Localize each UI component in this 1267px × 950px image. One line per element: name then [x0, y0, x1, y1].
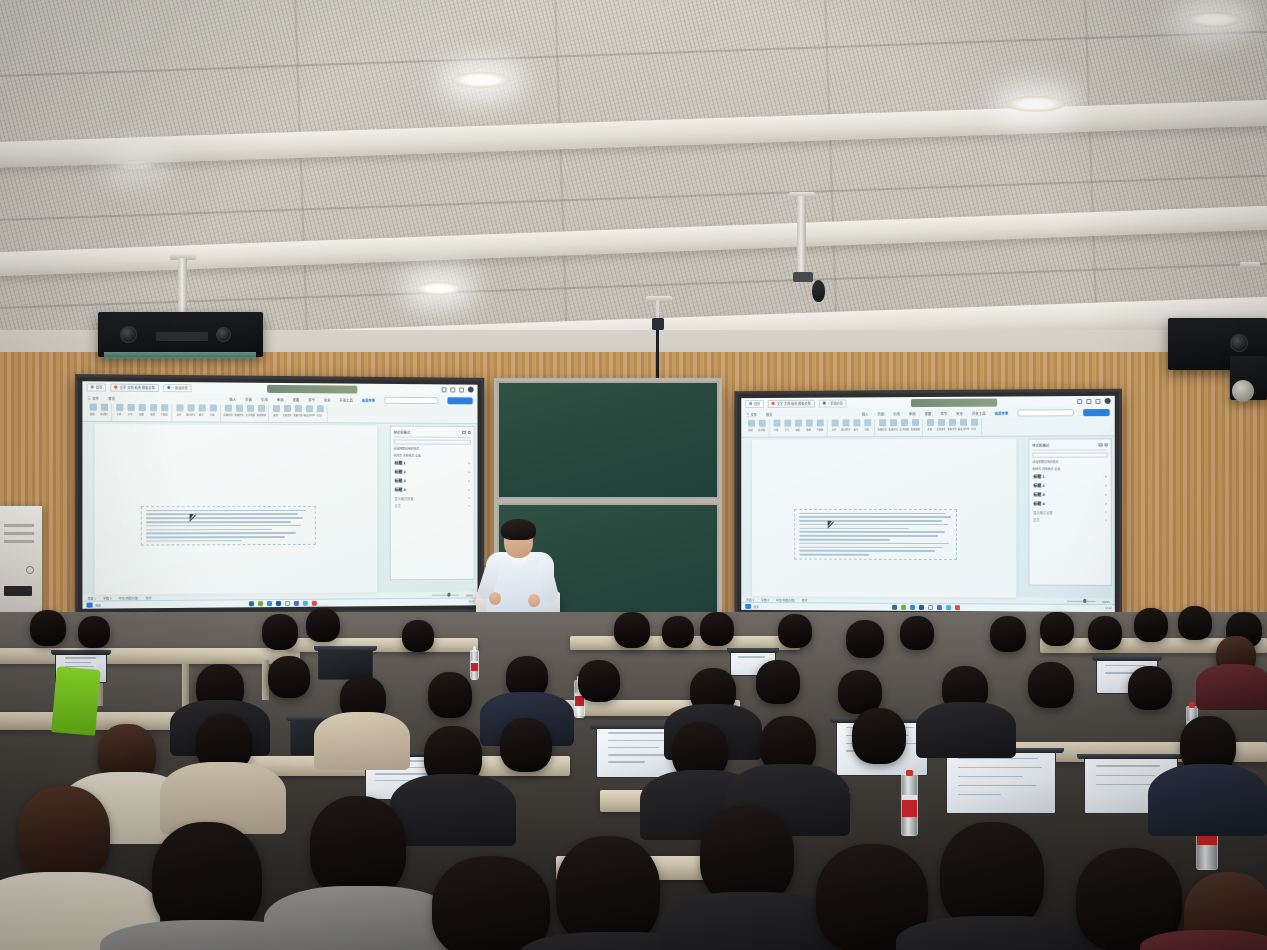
format-painter-icon — [758, 420, 765, 427]
wps-icon[interactable] — [312, 600, 317, 606]
document-paragraph[interactable] — [141, 506, 316, 546]
audience-member — [578, 660, 620, 702]
style-item[interactable]: 正文▾ — [1032, 516, 1107, 524]
teams-icon[interactable] — [294, 601, 299, 607]
chevron-down-icon[interactable]: ▾ — [1105, 518, 1107, 522]
menu-item-section[interactable]: 章节 — [940, 410, 947, 415]
chalkboard-upper-panel — [497, 381, 719, 499]
ribbon-toolbar: 粘贴 格式刷 字体 字号 加粗 倾斜 下划线 对齐 项目符号 编号 行距 — [741, 417, 1115, 438]
select-icon — [273, 405, 280, 412]
ribbon-button[interactable]: 格式刷 — [99, 404, 108, 421]
ribbon-button[interactable]: 标题样式 — [878, 419, 887, 436]
heading-style-icon — [879, 419, 886, 426]
phone-icon[interactable] — [892, 605, 897, 611]
styles-panel[interactable]: 样式和格式 请选择要应用的格式 新样式 清除格式 全选 标题 1▾ 标题 2▾ … — [390, 426, 475, 581]
ribbon-button[interactable]: 输出为PDF — [959, 419, 968, 436]
browser-tab[interactable]: 文字 文档 稻壳 模板合集 — [768, 399, 815, 407]
ribbon-group-font: 字体 字号 加粗 倾斜 下划线 — [112, 404, 172, 422]
tab-label: 首页 — [96, 384, 103, 389]
find-replace-icon — [912, 419, 919, 426]
taskbar-search[interactable]: 搜索 — [87, 602, 101, 608]
ribbon-button[interactable]: 字号 — [783, 420, 792, 437]
water-bottle — [901, 774, 918, 836]
desk-leg — [182, 664, 189, 708]
paste-icon — [748, 420, 755, 427]
panel-header: 样式和格式 — [1032, 442, 1107, 450]
ribbon-button[interactable]: 粘贴 — [747, 420, 756, 437]
ribbon-button[interactable]: 字体 — [772, 420, 781, 437]
ribbon-button[interactable]: 倾斜 — [805, 420, 814, 437]
recessed-downlight — [1006, 96, 1066, 112]
menu-item-home[interactable]: 首页 — [108, 395, 115, 400]
menu-item-page[interactable]: 页面 — [877, 411, 884, 416]
menu-item-reference[interactable]: 引用 — [261, 396, 268, 401]
minimize-icon[interactable] — [1077, 399, 1082, 404]
status-page: 页面 1 — [746, 598, 754, 602]
style-item[interactable]: 标题 3▾ — [1032, 490, 1107, 499]
ribbon-button[interactable]: 新建样式 — [234, 405, 243, 422]
avatar[interactable] — [1105, 398, 1111, 404]
text-cursor — [189, 514, 195, 522]
ribbon-button[interactable]: 标题样式 — [223, 405, 232, 422]
document-title-bar[interactable] — [267, 384, 357, 393]
panel-filter-label: 请选择要应用的格式 — [394, 446, 471, 450]
ribbon-button[interactable]: 文字排版 — [900, 419, 909, 436]
ribbon-toolbar: 粘贴 格式刷 字体 字号 加粗 倾斜 下划线 对齐 项目符号 编号 行距 — [82, 403, 477, 425]
audience-member — [30, 610, 66, 646]
ribbon-button[interactable]: 选择 — [272, 405, 281, 422]
speaker-cone — [1232, 380, 1254, 402]
ribbon-group-styles: 标题样式 新建样式 文字排版 查找替换 — [221, 405, 269, 422]
zoom-slider[interactable] — [431, 594, 458, 596]
water-bottle — [470, 650, 479, 680]
menu-item-section[interactable]: 章节 — [308, 397, 315, 402]
ai-write-icon — [294, 405, 301, 412]
paste-icon — [89, 404, 96, 411]
lecture-hall-photo: 首页 文字 文档 稻壳 模板合集 + 新建标签 — [0, 0, 1267, 950]
document-canvas[interactable] — [752, 439, 1016, 598]
menu-item-security[interactable]: 安全 — [956, 410, 963, 415]
font-size-icon — [127, 404, 134, 411]
settings-icon[interactable] — [946, 605, 952, 611]
panel-pin-icon[interactable] — [462, 431, 465, 434]
style-item[interactable]: 标题 4▾ — [1032, 499, 1107, 508]
audience-member — [78, 616, 110, 648]
audience-member — [1128, 666, 1172, 710]
tab-label: 文字 文档 稻壳 模板合集 — [777, 401, 811, 406]
maximize-icon[interactable] — [450, 387, 455, 392]
ribbon-button[interactable]: 加粗 — [794, 420, 803, 437]
student-laptop — [318, 646, 373, 680]
ribbon-button[interactable]: 编号 — [197, 404, 206, 421]
ribbon-button[interactable]: 字号 — [126, 404, 135, 421]
heading-style-icon — [224, 405, 231, 412]
ai-write-icon — [948, 419, 955, 426]
status-page: 页面 1 — [88, 596, 96, 600]
font-icon — [773, 420, 780, 427]
window-controls[interactable] — [442, 386, 474, 392]
audience-member — [432, 856, 550, 950]
hanging-microphone-cable — [656, 300, 659, 318]
doc-assistant-icon — [937, 419, 944, 426]
tab-label: 首页 — [754, 401, 760, 406]
camera-bracket — [793, 272, 813, 282]
ribbon-button[interactable]: 智能写作 — [947, 419, 956, 436]
style-item[interactable]: 标题 2▾ — [394, 468, 471, 477]
audience-member — [940, 822, 1044, 930]
menu-item-view[interactable]: 视图 — [293, 397, 300, 402]
audience-member — [1028, 662, 1074, 708]
ribbon-button[interactable]: 格式刷 — [757, 420, 766, 437]
ribbon-button[interactable]: 文字排版 — [245, 405, 254, 422]
ribbon-button[interactable]: 项目符号 — [841, 419, 850, 436]
start-icon[interactable] — [745, 604, 750, 609]
ribbon-group-font: 字体 字号 加粗 倾斜 下划线 — [770, 419, 828, 436]
print-icon — [316, 405, 323, 412]
audience-member — [700, 612, 734, 646]
save-button[interactable] — [447, 397, 472, 404]
audience-member-shoulders — [264, 886, 458, 950]
audience-member — [778, 614, 812, 648]
ribbon-button[interactable]: 下划线 — [160, 404, 169, 421]
audience-member — [846, 620, 884, 658]
ribbon-button[interactable]: 智能写作 — [293, 405, 302, 422]
taskbar-clock[interactable]: 15:42 — [1105, 607, 1112, 610]
panel-close-icon[interactable] — [1104, 443, 1108, 447]
start-icon[interactable] — [87, 602, 93, 608]
chevron-down-icon[interactable]: ▾ — [468, 462, 469, 466]
browser-tab[interactable]: 文字 文档 稻壳 模板合集 — [111, 383, 160, 391]
style-item[interactable]: 标题 3▾ — [394, 477, 471, 486]
export-pdf-icon — [960, 419, 967, 426]
ceiling-projector-left — [98, 312, 263, 357]
chevron-down-icon[interactable]: ▾ — [468, 479, 469, 483]
wps-icon[interactable] — [955, 605, 961, 611]
presenter-right-hand — [528, 594, 540, 607]
find-replace-icon — [258, 405, 265, 412]
tab-label: + 新建标签 — [172, 385, 188, 390]
projector-mount-plate — [1240, 262, 1260, 268]
menu-item-review[interactable]: 审阅 — [277, 396, 284, 401]
ribbon-group-tools: 选择 文档助手 智能写作 输出为PDF 打印 — [269, 405, 328, 422]
menu-item-file[interactable]: 三 文件 — [746, 411, 757, 416]
browser-tab[interactable]: 首页 — [87, 383, 107, 391]
audience-member — [556, 836, 660, 946]
audience-member — [990, 616, 1026, 652]
zoom-slider[interactable] — [1067, 601, 1095, 603]
document-title-bar[interactable] — [911, 398, 997, 407]
panel-close-icon[interactable] — [467, 431, 470, 434]
status-words: 字数 0 — [103, 596, 111, 600]
recessed-downlight — [452, 72, 510, 88]
font-size-icon — [784, 420, 791, 427]
text-layout-icon — [901, 419, 908, 426]
chevron-down-icon[interactable]: ▾ — [468, 504, 469, 508]
ribbon-button[interactable]: 对齐 — [830, 419, 839, 436]
audience-member — [500, 718, 552, 772]
ribbon-button[interactable]: 倾斜 — [148, 404, 157, 421]
menu-item-insert[interactable]: 插入 — [862, 411, 869, 416]
italic-icon — [806, 420, 813, 427]
menu-item-reference[interactable]: 引用 — [893, 411, 900, 416]
windows-taskbar: 搜索 15:42 — [741, 602, 1115, 612]
presenter-hair — [501, 519, 536, 540]
menu-item-member[interactable]: 会员专享 — [995, 410, 1009, 415]
recessed-downlight — [1186, 12, 1242, 27]
underline-icon — [161, 404, 168, 411]
ribbon-button[interactable]: 查找替换 — [911, 419, 920, 436]
panel-title: 样式和格式 — [394, 430, 411, 435]
audience-member — [428, 672, 472, 718]
ribbon-button[interactable]: 打印 — [315, 405, 324, 422]
audience-member — [1040, 612, 1074, 646]
avatar[interactable] — [468, 387, 474, 393]
underline-icon — [816, 420, 823, 427]
print-icon — [971, 419, 978, 426]
style-item[interactable]: 标题 4▾ — [394, 485, 471, 494]
ribbon-button[interactable]: 查找替换 — [257, 405, 266, 422]
menu-item-developer[interactable]: 开发工具 — [972, 410, 986, 415]
style-item[interactable]: 标题 1▾ — [394, 459, 471, 468]
doc-assistant-icon — [283, 405, 290, 412]
style-item[interactable]: 标题 2▾ — [1032, 482, 1107, 491]
status-mode: 校对 — [802, 598, 808, 602]
ribbon-button[interactable]: 对齐 — [175, 404, 184, 421]
audience-member-shoulders — [1196, 664, 1267, 710]
zoom-level: 100% — [466, 593, 473, 597]
audience-member — [1134, 608, 1168, 642]
microphone-mount-plate — [646, 296, 672, 302]
tab-label: + 新建标签 — [828, 401, 843, 406]
new-tab-button[interactable]: + 新建标签 — [163, 383, 192, 391]
audience-member — [1178, 606, 1212, 640]
style-item[interactable]: 标题 1▾ — [1032, 473, 1107, 482]
taskbar-search[interactable]: 搜索 — [745, 604, 759, 610]
chevron-down-icon[interactable]: ▾ — [468, 496, 469, 500]
search-input[interactable] — [1017, 409, 1074, 416]
align-icon — [176, 404, 183, 411]
projector-shadow — [104, 352, 256, 359]
audience-member — [306, 608, 340, 642]
search-input[interactable] — [384, 396, 439, 403]
browser-tab[interactable]: 首页 — [745, 399, 764, 407]
audience-member-shoulders — [916, 702, 1016, 758]
ribbon-group-tools: 选择 文档助手 智能写作 输出为PDF 打印 — [923, 419, 982, 436]
ribbon-group-clipboard: 粘贴 格式刷 — [85, 404, 112, 421]
audience-member-shoulders — [896, 916, 1096, 950]
ribbon-group-paragraph: 对齐 项目符号 编号 行距 — [172, 404, 221, 421]
style-search-input[interactable] — [394, 439, 471, 444]
panel-filter-label: 请选择要应用的格式 — [1032, 460, 1107, 464]
settings-icon[interactable] — [303, 601, 308, 607]
panel-pin-icon[interactable] — [1098, 443, 1102, 447]
audience-member-shoulders — [1148, 764, 1267, 836]
bold-icon — [138, 404, 145, 411]
style-item[interactable]: 显示格式设置▾ — [394, 494, 471, 502]
audience-member — [756, 660, 800, 704]
menu-item-file[interactable]: 三 文件 — [88, 395, 99, 400]
audience-member — [852, 708, 906, 764]
save-button[interactable] — [1083, 408, 1109, 415]
camera-mount-pole — [797, 196, 806, 278]
ribbon-button[interactable]: 打印 — [970, 419, 979, 436]
align-icon — [831, 419, 838, 426]
explorer-icon[interactable] — [258, 601, 264, 607]
status-language: 中文(中国大陆) — [776, 598, 795, 602]
ribbon-group-styles: 标题样式 新建样式 文字排版 查找替换 — [875, 419, 923, 436]
menu-item-page[interactable]: 页面 — [245, 396, 252, 401]
chevron-down-icon[interactable]: ▾ — [468, 471, 469, 475]
ribbon-button[interactable]: 加粗 — [137, 404, 146, 421]
line-spacing-icon — [864, 419, 871, 426]
menu-item-insert[interactable]: 插入 — [229, 396, 236, 401]
bullet-list-icon — [187, 404, 194, 411]
taskbar-clock[interactable]: 15:42 — [468, 600, 474, 603]
audience-member — [152, 822, 262, 936]
style-item[interactable]: 显示格式设置▾ — [1032, 508, 1107, 516]
new-tab-button[interactable]: + 新建标签 — [819, 399, 847, 407]
style-item[interactable]: 正文▾ — [394, 502, 471, 510]
italic-icon — [149, 404, 156, 411]
zoom-level: 100% — [1102, 599, 1110, 603]
font-icon — [116, 404, 123, 411]
mail-icon[interactable] — [276, 601, 281, 607]
panel-section-label: 新样式 清除格式 全选 — [1032, 466, 1107, 470]
chevron-down-icon[interactable]: ▾ — [1105, 502, 1107, 506]
wps-writer-window-left: 首页 文字 文档 稻壳 模板合集 + 新建标签 — [82, 381, 477, 608]
format-painter-icon — [100, 404, 107, 411]
audience-member-shoulders — [390, 774, 516, 846]
ribbon-group-clipboard: 粘贴 格式刷 — [744, 420, 769, 437]
explorer-icon[interactable] — [901, 605, 906, 611]
audience-member — [1088, 616, 1122, 650]
text-layout-icon — [246, 405, 253, 412]
line-spacing-icon — [209, 404, 216, 411]
chevron-down-icon[interactable]: ▾ — [1105, 510, 1107, 514]
audience-member — [18, 786, 110, 882]
ribbon-button[interactable]: 字体 — [115, 404, 124, 421]
ribbon-button[interactable]: 粘贴 — [88, 404, 97, 421]
edge-icon[interactable] — [910, 605, 915, 611]
menu-item-review[interactable]: 审阅 — [909, 411, 916, 416]
text-cursor — [828, 521, 834, 529]
ribbon-button[interactable]: 新建样式 — [889, 419, 898, 436]
edge-icon[interactable] — [267, 601, 272, 607]
numbered-list-icon — [198, 404, 205, 411]
ribbon-button[interactable]: 编号 — [852, 419, 861, 436]
bullet-list-icon — [842, 419, 849, 426]
ribbon-button[interactable]: 文档助手 — [283, 405, 292, 422]
projector-mount-pole — [178, 258, 187, 314]
audience-member — [700, 806, 794, 904]
audience-member — [268, 656, 310, 698]
audience-member — [900, 616, 934, 650]
audience-member — [310, 796, 406, 898]
document-canvas[interactable] — [95, 424, 377, 594]
bold-icon — [795, 420, 802, 427]
numbered-list-icon — [853, 419, 860, 426]
phone-icon[interactable] — [249, 601, 255, 607]
menu-item-home[interactable]: 首页 — [766, 411, 773, 416]
status-words: 字数 0 — [761, 598, 769, 602]
ribbon-button[interactable]: 输出为PDF — [304, 405, 313, 422]
teams-icon[interactable] — [937, 605, 943, 611]
panel-section-label: 新样式 清除格式 全选 — [394, 453, 471, 457]
projection-screen-left: 首页 文字 文档 稻壳 模板合集 + 新建标签 — [75, 374, 484, 616]
ribbon-button[interactable]: 行距 — [863, 419, 872, 436]
styles-panel[interactable]: 样式和格式 请选择要应用的格式 新样式 清除格式 全选 标题 1▾ 标题 2▾ … — [1028, 438, 1112, 586]
menu-item-security[interactable]: 安全 — [324, 397, 331, 402]
close-icon[interactable] — [1095, 398, 1100, 403]
ribbon-group-paragraph: 对齐 项目符号 编号 行距 — [828, 419, 876, 436]
ribbon-button[interactable]: 文档助手 — [936, 419, 945, 436]
export-pdf-icon — [305, 405, 312, 412]
store-icon[interactable] — [928, 605, 933, 611]
minimize-icon[interactable] — [442, 387, 447, 392]
audience-member-shoulders — [314, 712, 410, 770]
menu-item-developer[interactable]: 开发工具 — [339, 397, 352, 402]
menu-item-member[interactable]: 会员专享 — [362, 397, 375, 402]
mail-icon[interactable] — [919, 605, 924, 611]
recessed-downlight — [116, 160, 156, 171]
hanging-microphone — [652, 318, 664, 330]
panel-header: 样式和格式 — [394, 430, 471, 438]
wps-writer-window-right: 首页 文字 文档 稻壳 模板合集 + 新建标签 — [741, 396, 1115, 612]
new-style-icon — [890, 419, 897, 426]
ribbon-button[interactable]: 下划线 — [815, 420, 824, 437]
status-mode: 校对 — [146, 596, 152, 600]
chevron-down-icon[interactable]: ▾ — [1105, 475, 1107, 479]
audience-member — [614, 612, 650, 648]
ceiling-camera — [812, 280, 825, 302]
presenter-left-hand — [489, 592, 501, 605]
chevron-down-icon[interactable]: ▾ — [1105, 493, 1107, 497]
audience-member — [662, 616, 694, 648]
panel-title: 样式和格式 — [1032, 443, 1049, 448]
window-controls[interactable] — [1077, 398, 1111, 404]
ribbon-button[interactable]: 选择 — [926, 419, 935, 436]
document-paragraph[interactable] — [794, 508, 957, 559]
chevron-down-icon[interactable]: ▾ — [468, 488, 469, 492]
chevron-down-icon[interactable]: ▾ — [1105, 484, 1107, 488]
style-search-input[interactable] — [1032, 452, 1107, 457]
store-icon[interactable] — [285, 601, 290, 607]
audience-member — [402, 620, 434, 652]
menu-item-view[interactable]: 视图 — [925, 410, 932, 415]
student-desk-row — [0, 648, 300, 664]
maximize-icon[interactable] — [1086, 398, 1091, 403]
ribbon-button[interactable]: 行距 — [208, 404, 217, 421]
select-icon — [926, 419, 933, 426]
projection-screen-right: 首页 文字 文档 稻壳 模板合集 + 新建标签 — [734, 389, 1122, 620]
close-icon[interactable] — [459, 387, 464, 392]
recessed-downlight — [416, 282, 462, 295]
tab-label: 文字 文档 稻壳 模板合集 — [120, 385, 155, 390]
audience-member-shoulders — [660, 892, 840, 950]
new-style-icon — [235, 405, 242, 412]
green-jacket — [51, 666, 101, 736]
audience-member — [262, 614, 298, 650]
ribbon-button[interactable]: 项目符号 — [186, 404, 195, 421]
